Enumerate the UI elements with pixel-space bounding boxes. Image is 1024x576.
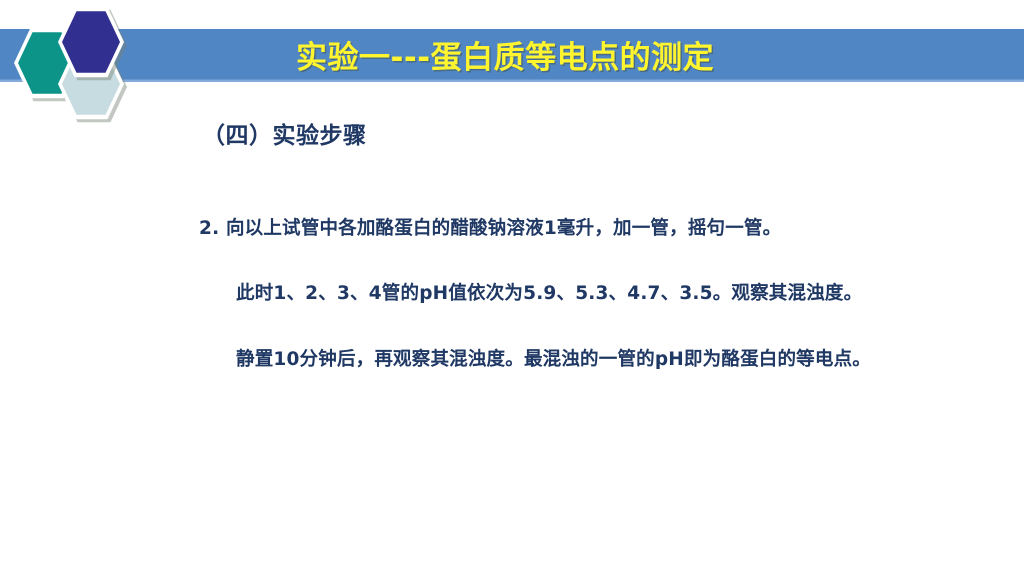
paragraph-ph-values: 此时1、2、3、4管的pH值依次为5.9、5.3、4.7、3.5。观察其混浊度。 — [186, 270, 876, 317]
hexagon-decoration — [14, 6, 130, 100]
paragraph-observation: 静置10分钟后，再观察其混浊度。最混浊的一管的pH即为酪蛋白的等电点。 — [186, 336, 876, 383]
slide-canvas: 实验一---蛋白质等电点的测定 （四）实验步骤 2. 向以上试管中各加酪蛋白的醋… — [0, 0, 1024, 576]
body-content: 2. 向以上试管中各加酪蛋白的醋酸钠溶液1毫升，加一管，摇句一管。 此时1、2、… — [186, 186, 876, 401]
paragraph-step-2: 2. 向以上试管中各加酪蛋白的醋酸钠溶液1毫升，加一管，摇句一管。 — [186, 205, 876, 252]
section-heading: （四）实验步骤 — [202, 116, 367, 150]
slide-title: 实验一---蛋白质等电点的测定 — [296, 36, 996, 80]
